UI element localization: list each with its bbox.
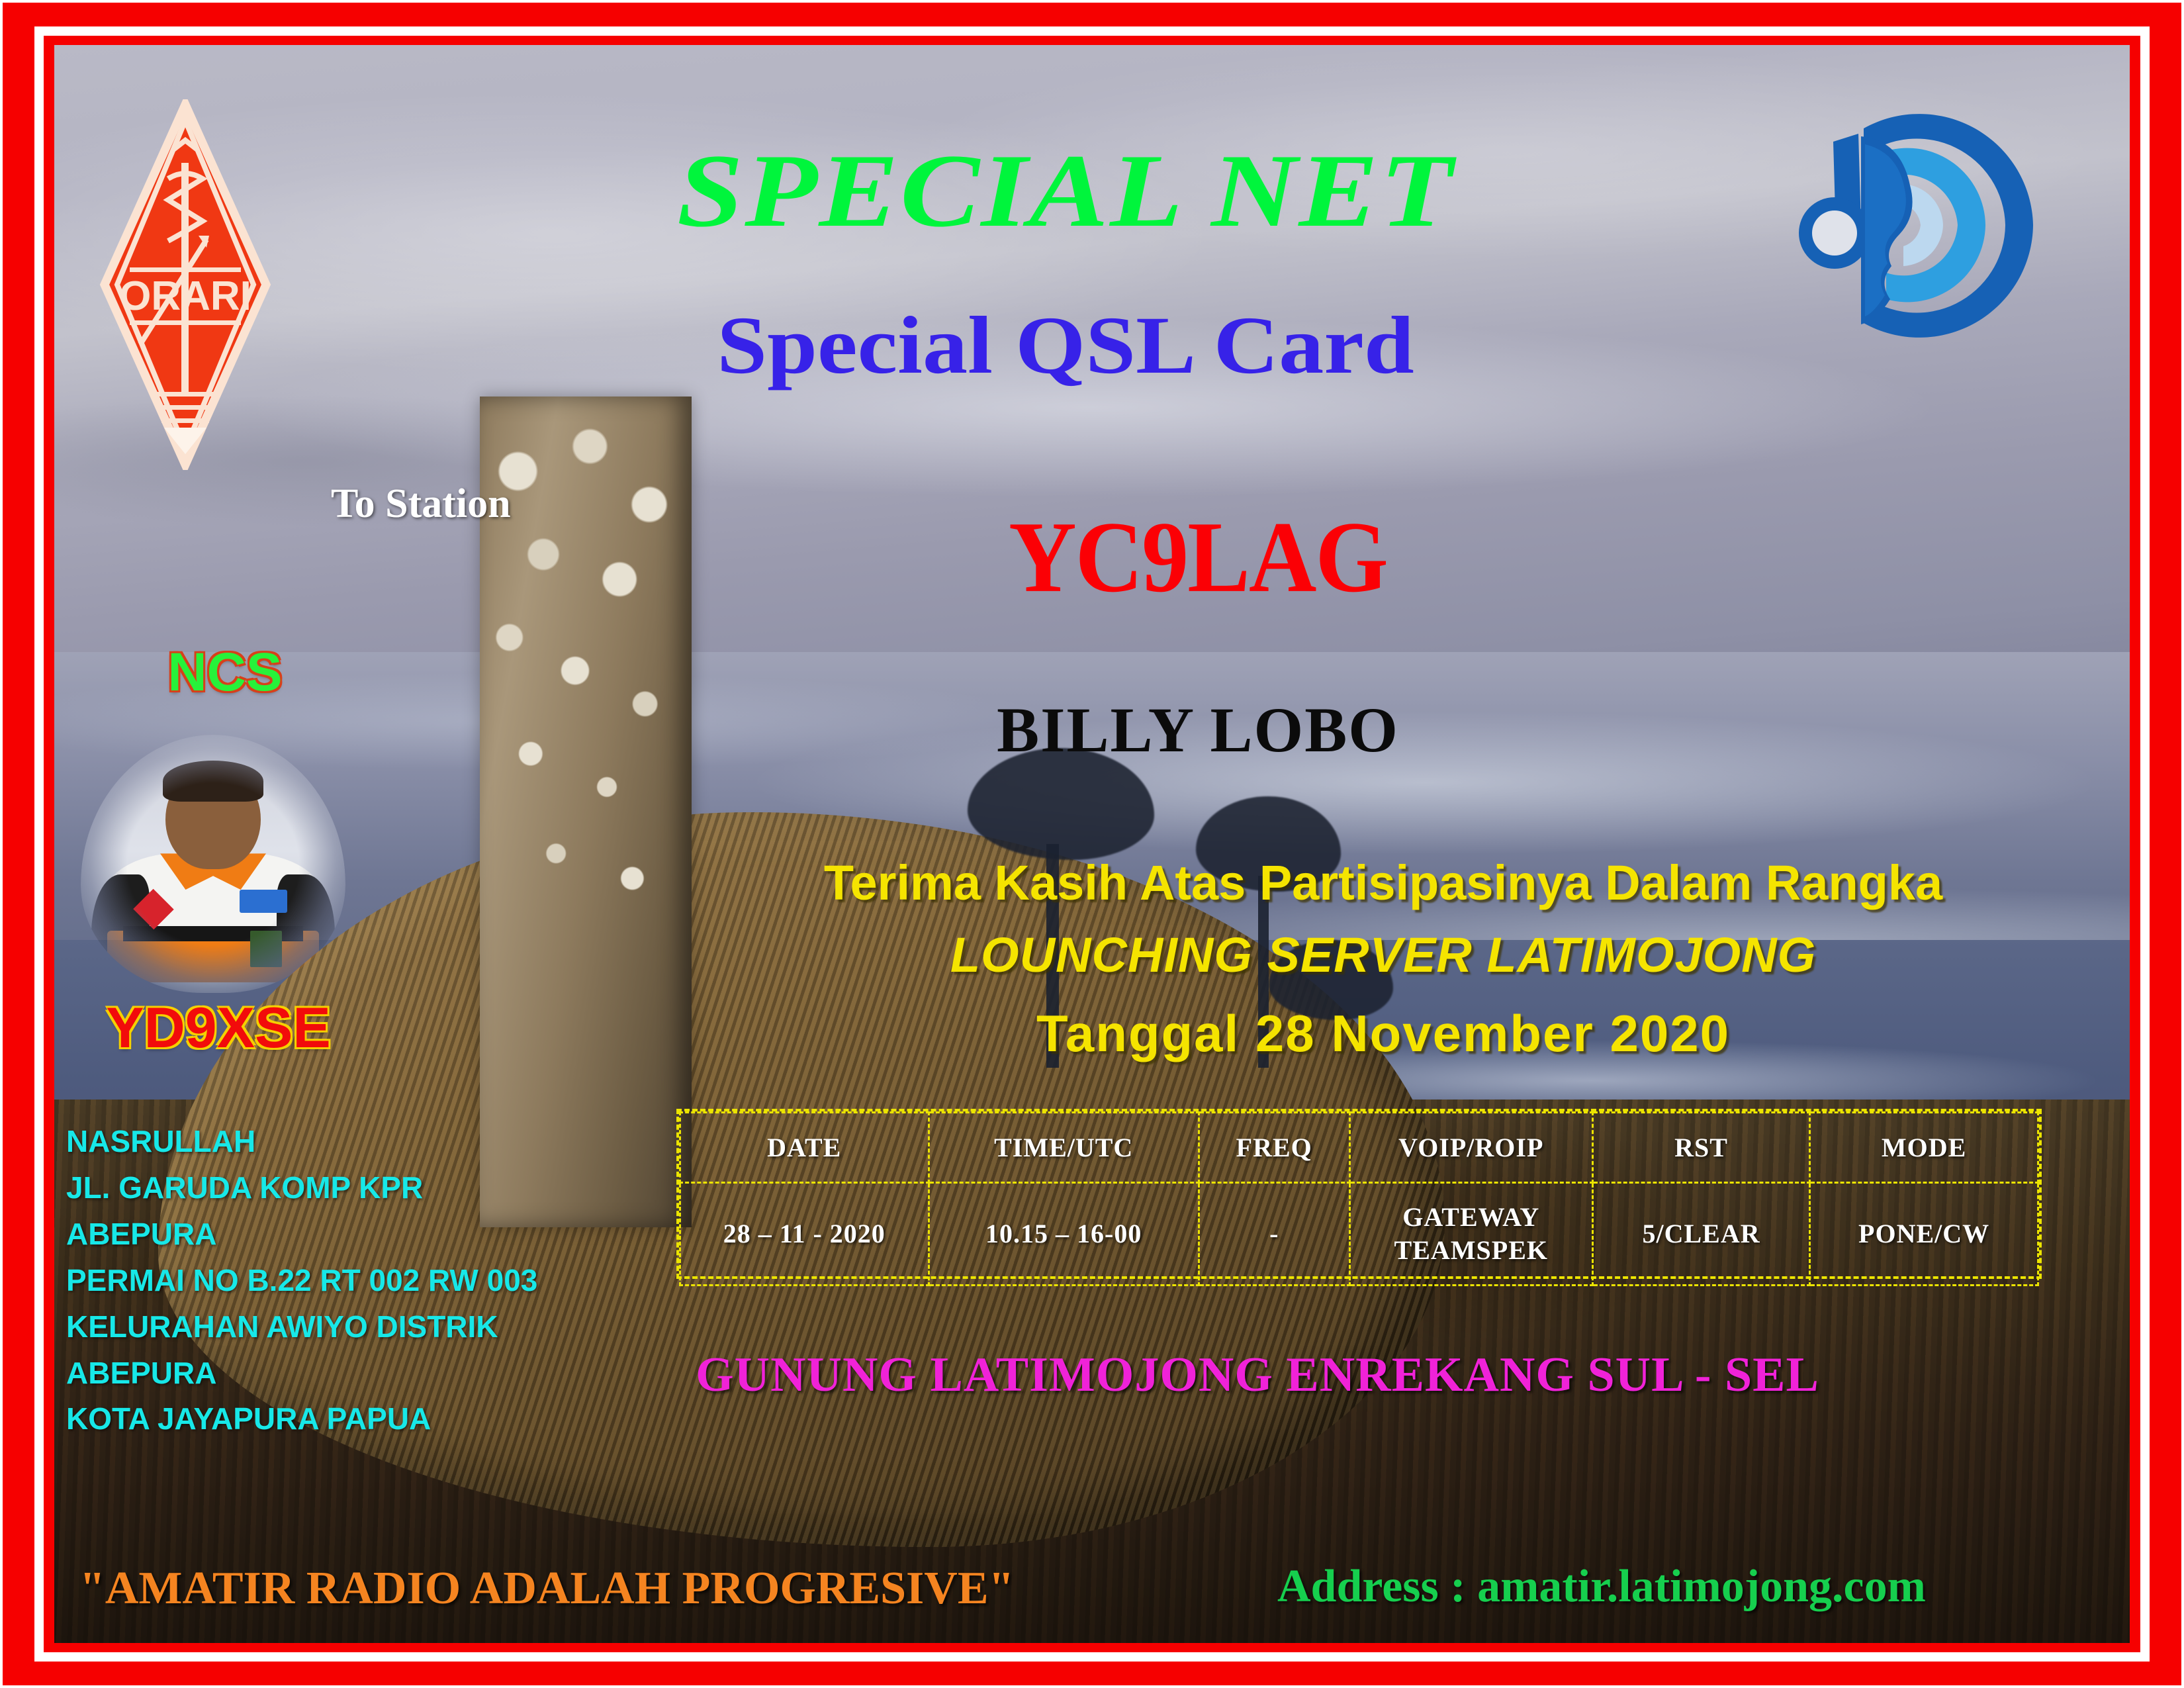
event-date-line: Tanggal 28 November 2020 <box>715 1003 2052 1064</box>
cell-date: 28 – 11 - 2020 <box>680 1183 929 1286</box>
station-callsign: YC9LAG <box>900 506 1496 607</box>
footer-motto: "AMATIR RADIO ADALAH PROGRESIVE" <box>79 1566 1014 1612</box>
location-caption: GUNUNG LATIMOJONG ENREKANG SUL - SEL <box>463 1350 2052 1399</box>
portrait-hair <box>163 761 263 802</box>
cell-voip-roip-line2: TEAMSPEK <box>1394 1235 1548 1265</box>
address-line-1: NASRULLAH <box>66 1119 649 1165</box>
ncs-callsign: YD9XSE <box>66 1000 371 1056</box>
event-thanks-line: Terima Kasih Atas Partisipasinya Dalam R… <box>715 854 2052 912</box>
column-header-time-utc: TIME/UTC <box>929 1113 1199 1183</box>
address-line-7: KOTA JAYAPURA PAPUA <box>66 1396 649 1442</box>
cell-voip-roip: GATEWAY TEAMSPEK <box>1349 1183 1592 1286</box>
event-text-block: Terima Kasih Atas Partisipasinya Dalam R… <box>715 854 2052 1064</box>
column-header-rst: RST <box>1592 1113 1809 1183</box>
photo-stone-pillar <box>480 397 692 1227</box>
column-header-mode: MODE <box>1810 1113 2038 1183</box>
cell-rst: 5/CLEAR <box>1592 1183 1809 1286</box>
to-station-label: To Station <box>331 483 511 524</box>
cell-time-utc: 10.15 – 16-00 <box>929 1183 1199 1286</box>
orari-logo-text: ORARI <box>119 273 251 319</box>
address-line-3: ABEPURA <box>66 1211 649 1258</box>
portrait-id-card <box>250 931 282 967</box>
page-title-special-net: SPECIAL NET <box>379 139 1752 244</box>
column-header-voip-roip: VOIP/ROIP <box>1349 1113 1592 1183</box>
operator-name: BILLY LOBO <box>900 698 1496 762</box>
qso-details-table: DATE TIME/UTC FREQ VOIP/ROIP RST MODE 28… <box>676 1109 2042 1279</box>
cell-mode: PONE/CW <box>1810 1183 2038 1286</box>
broadcast-headphone-logo <box>1787 93 2052 357</box>
ncs-operator-photo <box>81 735 345 993</box>
address-line-5: KELURAHAN AWIYO DISTRIK <box>66 1304 649 1350</box>
column-header-freq: FREQ <box>1199 1113 1349 1183</box>
ncs-label: NCS <box>93 645 357 700</box>
table-header-row: DATE TIME/UTC FREQ VOIP/ROIP RST MODE <box>680 1113 2038 1183</box>
cell-freq: - <box>1199 1183 1349 1286</box>
event-title-line: LOUNCHING SERVER LATIMOJONG <box>715 926 2052 984</box>
portrait-chest-badge <box>240 890 287 913</box>
orari-logo: ORARI <box>99 99 271 470</box>
footer-web-address: Address : amatir.latimojong.com <box>1277 1564 1926 1610</box>
address-line-2: JL. GARUDA KOMP KPR <box>66 1165 649 1211</box>
column-header-date: DATE <box>680 1113 929 1183</box>
cell-voip-roip-line1: GATEWAY <box>1402 1202 1539 1232</box>
qsl-card: ORARI SPECIAL NET Special QSL Card To St… <box>0 0 2184 1688</box>
page-subtitle-qsl-card: Special QSL Card <box>403 305 1728 387</box>
address-line-4: PERMAI NO B.22 RT 002 RW 003 <box>66 1258 649 1304</box>
table-row: 28 – 11 - 2020 10.15 – 16-00 - GATEWAY T… <box>680 1183 2038 1286</box>
